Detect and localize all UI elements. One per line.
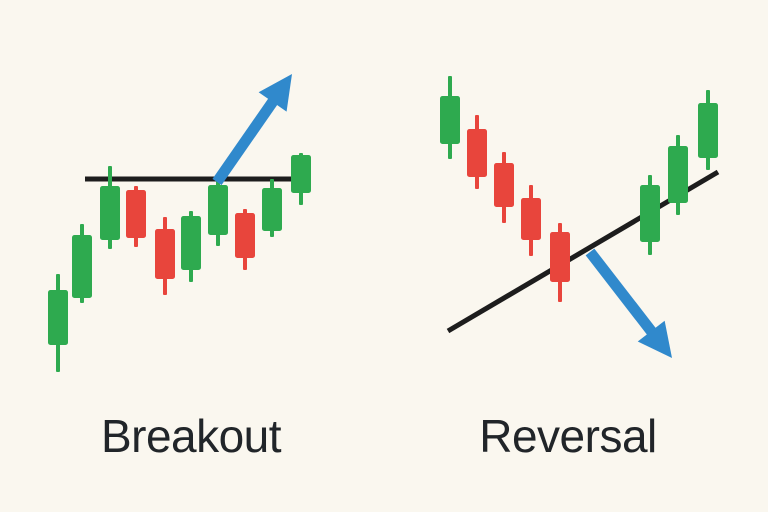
candle-body-bearish — [521, 198, 541, 240]
candle-body-bearish — [155, 229, 175, 279]
panel-label-breakout: Breakout — [101, 410, 282, 462]
candle-body-bullish — [640, 185, 660, 242]
candle-body-bullish — [181, 216, 201, 270]
candlestick — [126, 186, 146, 247]
candle-body-bullish — [698, 103, 718, 158]
candle-body-bullish — [291, 155, 311, 193]
candle-body-bullish — [100, 186, 120, 240]
candle-body-bearish — [235, 213, 255, 258]
candle-body-bearish — [467, 129, 487, 177]
candle-body-bullish — [262, 188, 282, 231]
candle-body-bullish — [668, 146, 688, 203]
candlestick — [72, 224, 92, 303]
panel-label-reversal: Reversal — [479, 410, 657, 462]
candlestick — [668, 135, 688, 215]
candle-body-bullish — [208, 185, 228, 235]
candlestick-pattern-figure: Breakout Reversal — [0, 0, 768, 512]
candle-body-bullish — [440, 96, 460, 144]
candle-body-bearish — [550, 232, 570, 282]
candle-body-bearish — [494, 163, 514, 207]
candle-body-bullish — [48, 290, 68, 345]
chart-illustration: Breakout Reversal — [0, 0, 768, 512]
candle-body-bearish — [126, 190, 146, 238]
candle-body-bullish — [72, 235, 92, 298]
